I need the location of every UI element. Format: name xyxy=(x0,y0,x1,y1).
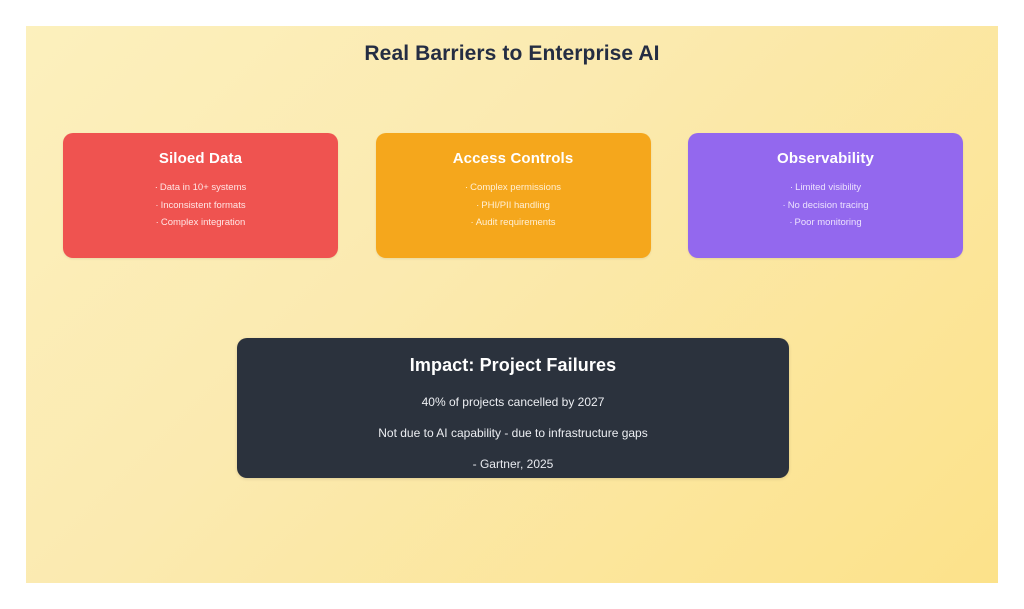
list-item-label: PHI/PII handling xyxy=(481,200,550,211)
card-title: Access Controls xyxy=(453,150,574,167)
bullet-dot-icon: · xyxy=(783,200,786,211)
list-item-label: Poor monitoring xyxy=(795,217,862,228)
list-item-label: Inconsistent formats xyxy=(161,200,246,211)
bullet-dot-icon: · xyxy=(156,217,159,228)
impact-source-citation: - Gartner, 2025 xyxy=(237,457,789,471)
barrier-card-siloed-data[interactable]: Siloed Data ·Data in 10+ systems ·Incons… xyxy=(63,133,338,258)
impact-panel: Impact: Project Failures 40% of projects… xyxy=(237,338,789,478)
list-item: ·Complex integration xyxy=(63,214,338,232)
bullet-dot-icon: · xyxy=(155,182,158,193)
list-item-label: Audit requirements xyxy=(476,217,556,228)
card-title: Siloed Data xyxy=(159,150,242,167)
bullet-dot-icon: · xyxy=(471,217,474,228)
bullet-dot-icon: · xyxy=(155,200,158,211)
bullet-dot-icon: · xyxy=(790,182,793,193)
list-item: ·Data in 10+ systems xyxy=(63,179,338,197)
barrier-card-access-controls[interactable]: Access Controls ·Complex permissions ·PH… xyxy=(376,133,651,258)
list-item: ·Inconsistent formats xyxy=(63,197,338,215)
card-title: Observability xyxy=(777,150,874,167)
impact-heading: Impact: Project Failures xyxy=(237,355,789,376)
list-item: ·Audit requirements xyxy=(376,214,651,232)
list-item: ·PHI/PII handling xyxy=(376,197,651,215)
bullet-dot-icon: · xyxy=(789,217,792,228)
card-bullet-list: ·Data in 10+ systems ·Inconsistent forma… xyxy=(63,179,338,232)
card-bullet-list: ·Limited visibility ·No decision tracing… xyxy=(688,179,963,232)
list-item-label: Complex integration xyxy=(161,217,246,228)
impact-detail-line: Not due to AI capability - due to infras… xyxy=(237,426,789,440)
list-item: ·Limited visibility xyxy=(688,179,963,197)
page-title: Real Barriers to Enterprise AI xyxy=(26,42,998,66)
bullet-dot-icon: · xyxy=(465,182,468,193)
list-item: ·Complex permissions xyxy=(376,179,651,197)
barrier-cards-row: Siloed Data ·Data in 10+ systems ·Incons… xyxy=(63,133,963,258)
list-item-label: Complex permissions xyxy=(470,182,561,193)
barrier-card-observability[interactable]: Observability ·Limited visibility ·No de… xyxy=(688,133,963,258)
bullet-dot-icon: · xyxy=(476,200,479,211)
list-item-label: Limited visibility xyxy=(795,182,861,193)
list-item: ·Poor monitoring xyxy=(688,214,963,232)
list-item-label: Data in 10+ systems xyxy=(160,182,246,193)
card-bullet-list: ·Complex permissions ·PHI/PII handling ·… xyxy=(376,179,651,232)
list-item: ·No decision tracing xyxy=(688,197,963,215)
impact-stat-line: 40% of projects cancelled by 2027 xyxy=(237,395,789,409)
list-item-label: No decision tracing xyxy=(788,200,869,211)
slide-canvas: Real Barriers to Enterprise AI Siloed Da… xyxy=(26,26,998,583)
